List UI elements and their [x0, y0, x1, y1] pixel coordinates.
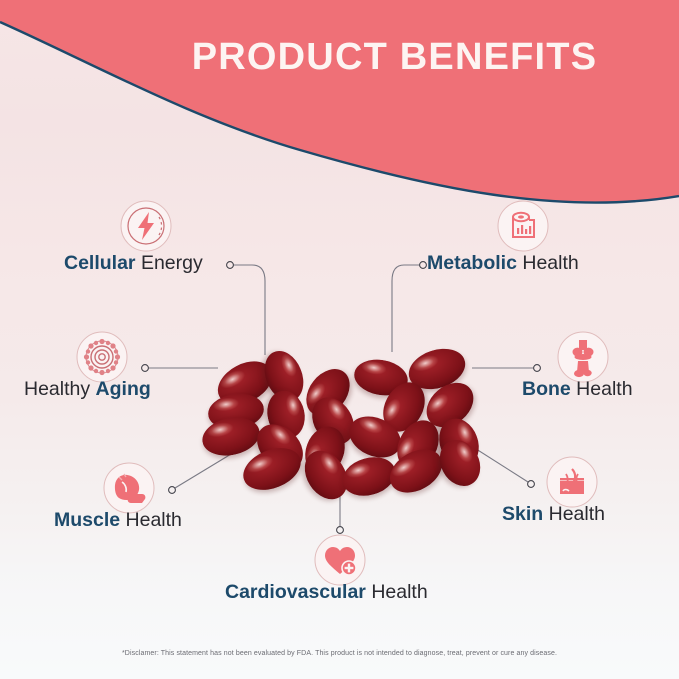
- page-title: PRODUCT BENEFITS: [0, 36, 679, 79]
- benefit-label-healthy-aging: Healthy Aging: [24, 378, 151, 401]
- product-capsules-image: [196, 340, 496, 520]
- bone-joint-icon: [556, 330, 610, 384]
- benefit-label-cardiovascular-health: Cardiovascular Health: [225, 581, 428, 604]
- connector-metabolic-health: [392, 262, 426, 352]
- lightning-bolt-icon: [119, 199, 173, 253]
- heart-cross-icon: [313, 533, 367, 587]
- measuring-tape-icon: [496, 199, 550, 253]
- flexed-bicep-icon: [102, 461, 156, 515]
- header-band: [0, 0, 679, 230]
- benefit-label-cellular-energy: Cellular Energy: [64, 252, 203, 275]
- benefit-label-metabolic-health: Metabolic Health: [427, 252, 579, 275]
- cell-mandala-icon: [75, 330, 129, 384]
- product-benefits-infographic: PRODUCT BENEFITS: [0, 0, 679, 679]
- skin-layers-icon: [545, 455, 599, 509]
- benefit-label-bone-health: Bone Health: [522, 378, 633, 401]
- benefit-label-skin-health: Skin Health: [502, 503, 605, 526]
- benefit-label-muscle-health: Muscle Health: [54, 509, 182, 532]
- disclaimer-text: *Disclamer: This statement has not been …: [0, 650, 679, 657]
- header-band-shape: [0, 0, 679, 203]
